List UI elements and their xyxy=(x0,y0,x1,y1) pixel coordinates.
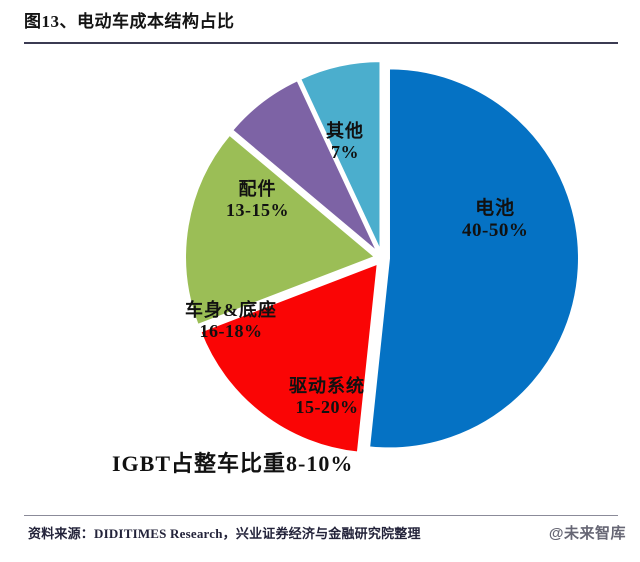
source-note: 资料来源：DIDITIMES Research，兴业证券经济与金融研究院整理 xyxy=(28,524,628,544)
footer-divider xyxy=(24,515,618,516)
pie-chart: 电池 40-50% 驱动系统 15-20% 车身&底座 16-18% 配件 13… xyxy=(0,48,640,498)
pie-slice-0 xyxy=(369,68,579,448)
chart-annotation: IGBT占整车比重8-10% xyxy=(112,446,353,478)
pie-chart-svg xyxy=(0,48,640,498)
pie-slice-group xyxy=(185,61,579,452)
figure-header: 图13、电动车成本结构占比 xyxy=(24,10,620,44)
page-title: 图13、电动车成本结构占比 xyxy=(24,10,620,34)
watermark-label: @未来智库 xyxy=(549,524,626,544)
header-divider xyxy=(24,42,618,44)
figure-footer: 资料来源：DIDITIMES Research，兴业证券经济与金融研究院整理 @… xyxy=(28,524,628,552)
